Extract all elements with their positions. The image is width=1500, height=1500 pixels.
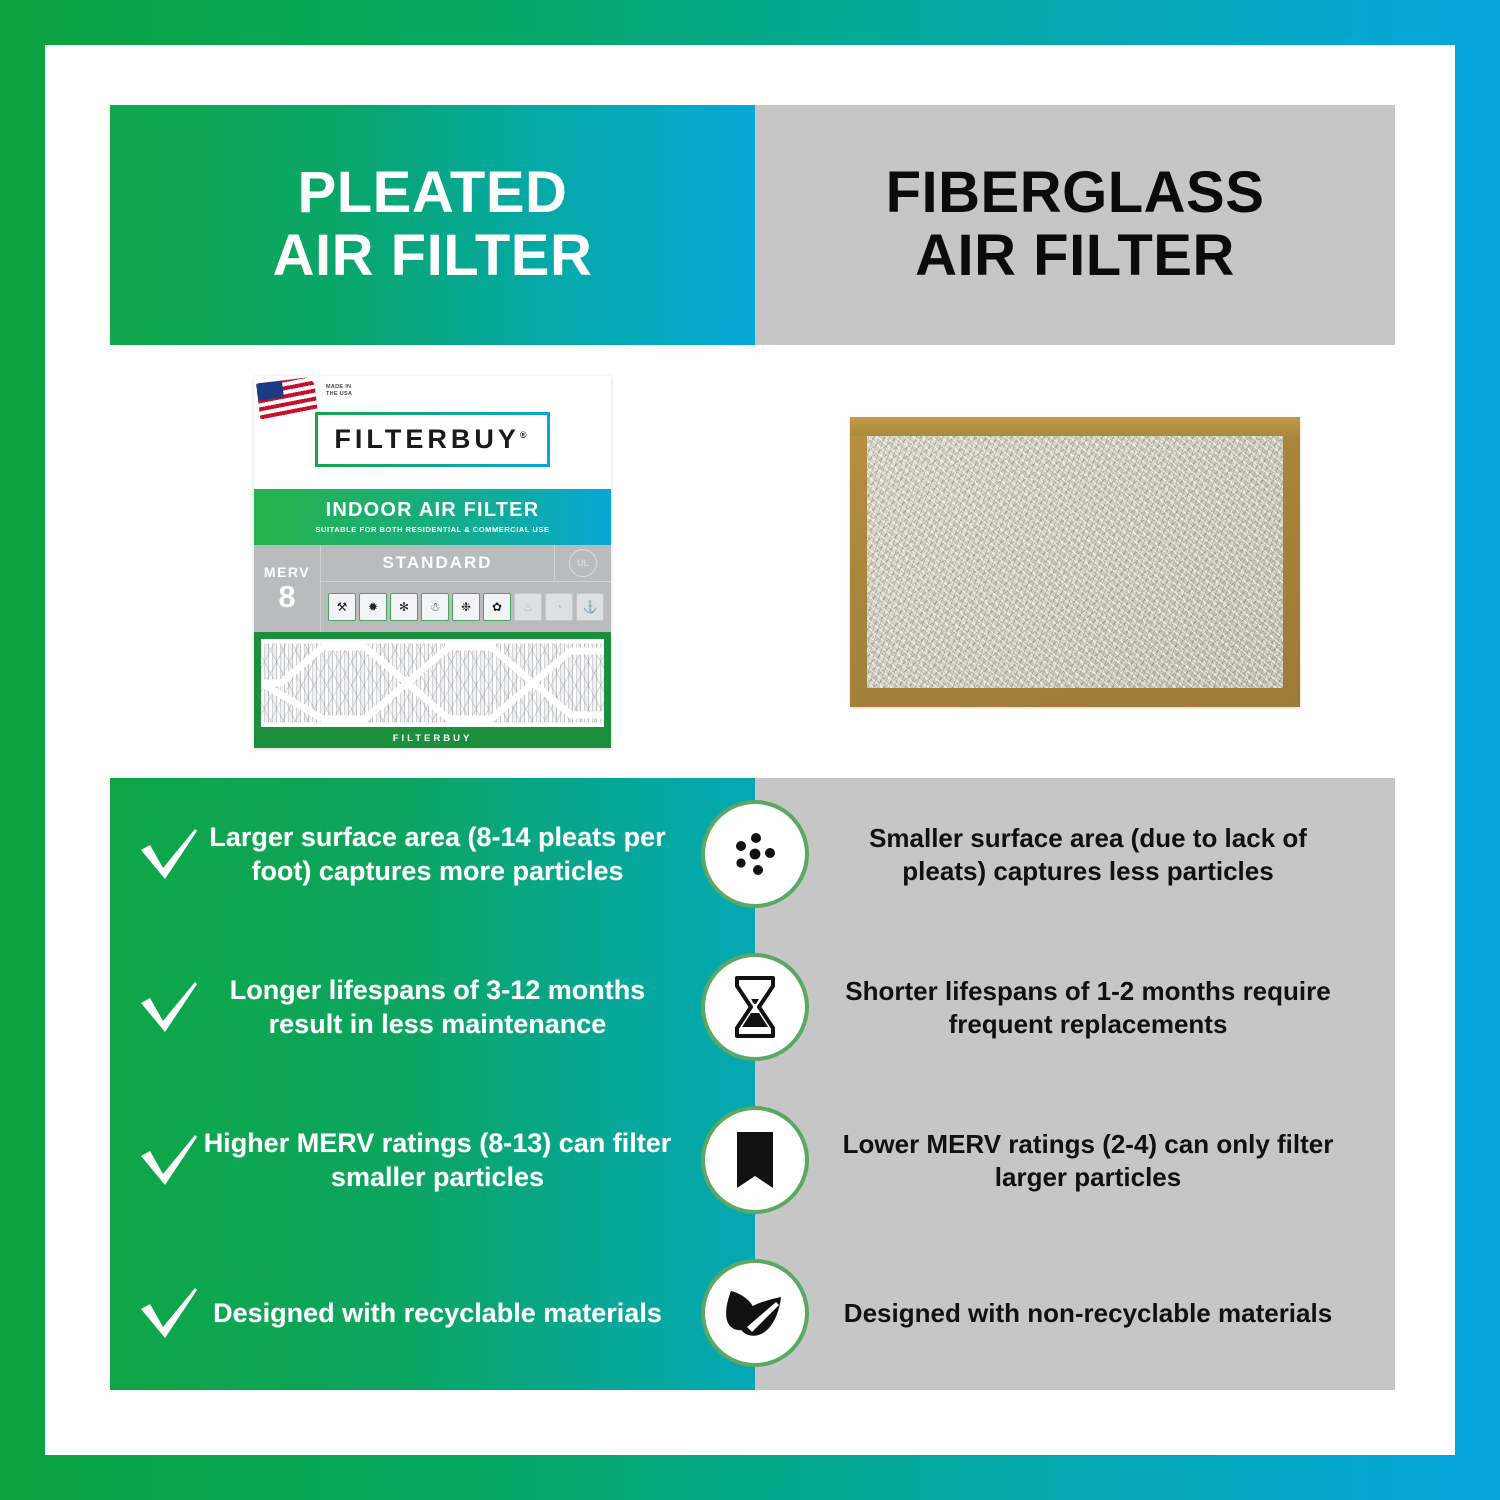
mold-icon: ☃ xyxy=(421,593,449,621)
comparison-row-left: Higher MERV ratings (8-13) can filter sm… xyxy=(110,1084,755,1237)
fiberglass-media-texture xyxy=(867,436,1283,688)
check-icon xyxy=(138,1287,200,1341)
particles-icon xyxy=(701,800,809,908)
comparison-row-left: Longer lifespans of 3-12 months result i… xyxy=(110,931,755,1084)
check-icon-glyph xyxy=(138,828,200,882)
product-cell-pleated: MADE INTHE USA FILTERBUY® INDOOR AIR FIL… xyxy=(110,345,755,778)
comparison-infographic: PLEATED AIR FILTER FIBERGLASS AIR FILTER… xyxy=(0,0,1500,1500)
comparison-rows: Larger surface area (8-14 pleats per foo… xyxy=(110,778,1395,1390)
box-feature-icon-strip: ⚒ ✹ ✻ ☃ ❉ ✿ ♨ ◔ ⚓ xyxy=(321,582,611,632)
comparison-row-right: Designed with non-recyclable materials xyxy=(755,1237,1395,1390)
header-row: PLEATED AIR FILTER FIBERGLASS AIR FILTER xyxy=(110,105,1395,345)
box-grade-label: STANDARD xyxy=(321,545,554,581)
comparison-row-left: Larger surface area (8-14 pleats per foo… xyxy=(110,778,755,931)
content-panel: PLEATED AIR FILTER FIBERGLASS AIR FILTER… xyxy=(110,105,1395,1390)
merv-badge: MERV 8 xyxy=(254,545,321,632)
comparison-row-right: Shorter lifespans of 1-2 months require … xyxy=(755,931,1395,1084)
check-icon xyxy=(138,981,200,1035)
check-icon-glyph xyxy=(138,981,200,1035)
header-fiberglass-line2: AIR FILTER xyxy=(886,225,1265,288)
comparison-row-right: Smaller surface area (due to lack of ple… xyxy=(755,778,1395,931)
brand-logo-frame: FILTERBUY® xyxy=(315,412,549,467)
pleated-filter-box-image: MADE INTHE USA FILTERBUY® INDOOR AIR FIL… xyxy=(254,376,611,748)
dust-mites-pollen-icon: ✹ xyxy=(359,593,387,621)
header-pleated-line1: PLEATED xyxy=(273,162,593,225)
merv-value: 8 xyxy=(278,581,295,612)
comparison-left-text: Longer lifespans of 3-12 months result i… xyxy=(200,974,675,1041)
header-fiberglass-line1: FIBERGLASS xyxy=(886,162,1265,225)
dust-debris-icon: ⚒ xyxy=(328,593,356,621)
smoke-icon: ♨ xyxy=(514,593,542,621)
check-icon-glyph xyxy=(138,1134,200,1188)
box-top-section: MADE INTHE USA FILTERBUY® xyxy=(254,376,611,489)
ul-mark-icon: UL xyxy=(569,549,597,577)
leaf-icon-glyph xyxy=(723,1283,787,1343)
check-icon xyxy=(138,1134,200,1188)
brand-logo-word: FILTERBUY xyxy=(334,424,520,454)
brand-logo-text: FILTERBUY® xyxy=(334,424,530,455)
particles-icon-glyph xyxy=(723,822,787,886)
comparison-left-text: Larger surface area (8-14 pleats per foo… xyxy=(200,821,675,888)
usa-flag-icon xyxy=(256,376,318,419)
pollen-icon: ✻ xyxy=(390,593,418,621)
box-pleated-media-window: FILTERBUY xyxy=(254,632,611,748)
pleated-media-texture xyxy=(261,639,604,727)
comparison-right-text: Lower MERV ratings (2-4) can only filter… xyxy=(833,1128,1343,1194)
product-cell-fiberglass xyxy=(755,345,1395,778)
ul-certification: UL xyxy=(554,545,611,581)
bacteria-icon: ◔ xyxy=(545,593,573,621)
box-band-subtitle: SUITABLE FOR BOTH RESIDENTIAL & COMMERCI… xyxy=(315,525,549,534)
lint-icon: ❉ xyxy=(452,593,480,621)
bookmark-icon-glyph xyxy=(731,1129,779,1191)
header-pleated-title: PLEATED AIR FILTER xyxy=(273,162,593,287)
check-icon-glyph xyxy=(138,1287,200,1341)
box-footer-brand: FILTERBUY xyxy=(254,733,611,744)
hourglass-icon xyxy=(701,953,809,1061)
virus-icon: ⚓ xyxy=(576,593,604,621)
bookmark-icon xyxy=(701,1106,809,1214)
box-spec-section: MERV 8 STANDARD UL ⚒ xyxy=(254,545,611,632)
box-spec-right: STANDARD UL ⚒ ✹ ✻ ☃ ❉ xyxy=(321,545,611,632)
pet-dander-icon: ✿ xyxy=(483,593,511,621)
header-fiberglass: FIBERGLASS AIR FILTER xyxy=(755,105,1395,345)
product-row: MADE INTHE USA FILTERBUY® INDOOR AIR FIL… xyxy=(110,345,1395,778)
trademark-symbol: ® xyxy=(520,430,531,440)
header-pleated-line2: AIR FILTER xyxy=(273,225,593,288)
merv-label: MERV xyxy=(264,564,310,580)
made-in-usa-label: MADE INTHE USA xyxy=(326,384,352,399)
comparison-right-text: Smaller surface area (due to lack of ple… xyxy=(833,822,1343,888)
comparison-row-right: Lower MERV ratings (2-4) can only filter… xyxy=(755,1084,1395,1237)
box-grade-row: STANDARD UL xyxy=(321,545,611,582)
box-product-band: INDOOR AIR FILTER SUITABLE FOR BOTH RESI… xyxy=(254,489,611,545)
hourglass-icon-glyph xyxy=(729,975,781,1039)
support-grid-icon xyxy=(261,639,604,727)
comparison-left-text: Higher MERV ratings (8-13) can filter sm… xyxy=(200,1127,675,1194)
leaf-icon xyxy=(701,1259,809,1367)
check-icon xyxy=(138,828,200,882)
comparison-section: Larger surface area (8-14 pleats per foo… xyxy=(110,778,1395,1390)
comparison-right-text: Designed with non-recyclable materials xyxy=(844,1297,1332,1330)
header-fiberglass-title: FIBERGLASS AIR FILTER xyxy=(886,162,1265,287)
box-band-title: INDOOR AIR FILTER xyxy=(326,499,540,522)
comparison-left-text: Designed with recyclable materials xyxy=(200,1297,675,1330)
comparison-right-text: Shorter lifespans of 1-2 months require … xyxy=(833,975,1343,1041)
fiberglass-filter-image xyxy=(850,417,1300,707)
comparison-row-left: Designed with recyclable materials xyxy=(110,1237,755,1390)
header-pleated: PLEATED AIR FILTER xyxy=(110,105,755,345)
